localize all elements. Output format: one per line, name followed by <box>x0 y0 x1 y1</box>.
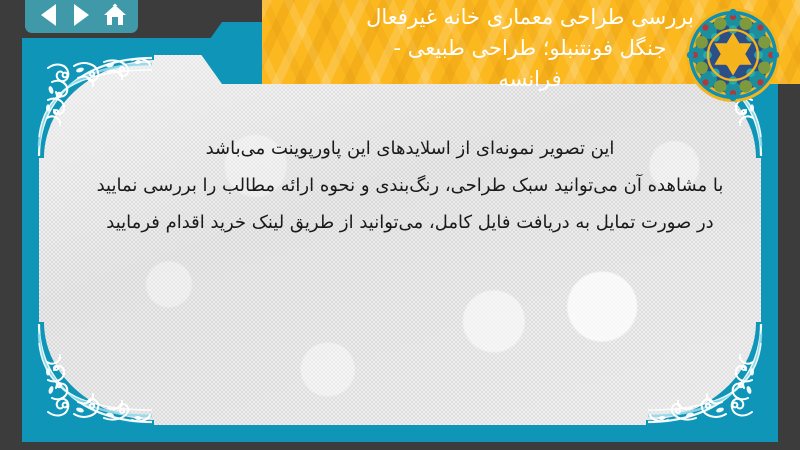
banner-arrow-tab <box>200 22 262 84</box>
persian-medallion-icon <box>684 6 782 104</box>
next-slide-button[interactable] <box>69 2 95 28</box>
arabesque-corner-ornament-icon <box>22 322 154 442</box>
home-icon <box>102 3 128 27</box>
triangle-left-icon <box>41 4 56 26</box>
prev-slide-button[interactable] <box>35 2 61 28</box>
triangle-right-icon <box>74 4 89 26</box>
home-button[interactable] <box>102 2 128 28</box>
slide-body-text: این تصویر نمونه‌ای از اسلایدهای این پاور… <box>60 130 760 241</box>
navigation-toolbar[interactable] <box>25 0 138 33</box>
arabesque-corner-ornament-icon <box>646 322 778 442</box>
slide-viewer: این تصویر نمونه‌ای از اسلایدهای این پاور… <box>0 0 800 450</box>
